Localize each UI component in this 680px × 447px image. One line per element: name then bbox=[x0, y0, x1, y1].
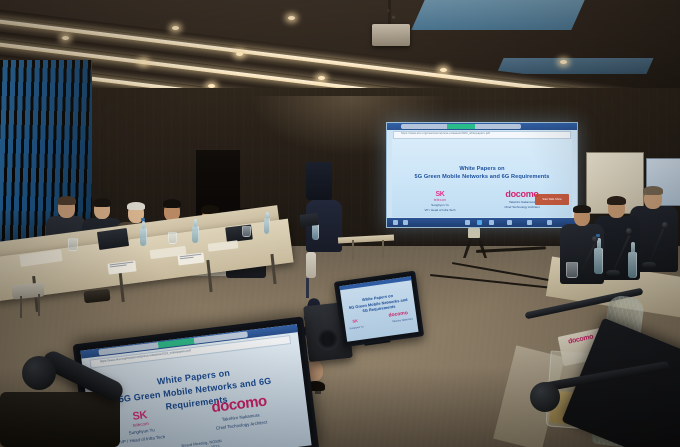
foreground-microphone-capsule bbox=[530, 382, 560, 412]
taskbar-icon[interactable] bbox=[393, 220, 398, 225]
sk-telecom-mark: SK bbox=[414, 191, 466, 198]
attendee-hair bbox=[163, 199, 181, 208]
attendee-hair bbox=[643, 186, 663, 195]
browser-tab-strip[interactable] bbox=[401, 124, 521, 129]
water-bottle bbox=[594, 248, 603, 274]
drinking-glass bbox=[242, 226, 251, 237]
taskbar-icon[interactable] bbox=[527, 220, 532, 225]
taskbar-icon[interactable] bbox=[507, 220, 512, 225]
microphone-base bbox=[642, 262, 656, 268]
microphone-head bbox=[662, 222, 668, 228]
sk-telecom-logo-block: SK telecom Sunghyun Yu VP / Head of Infr… bbox=[414, 191, 466, 212]
foreground-left-microphone-capsule bbox=[22, 356, 56, 390]
water-bottle bbox=[192, 226, 199, 243]
speaker-cone bbox=[316, 327, 340, 351]
presenter-tie bbox=[306, 278, 309, 298]
bottle-neck bbox=[194, 219, 197, 227]
slide-title-line1: White Papers on bbox=[392, 165, 572, 173]
lectern-leg bbox=[382, 240, 384, 258]
projector-cables bbox=[381, 4, 399, 26]
browser-url-text: https://www.etsi.org/newsroom/press-rele… bbox=[401, 132, 490, 135]
monitor-sk-mark: SK bbox=[352, 318, 358, 324]
taskbar-icon[interactable] bbox=[547, 220, 552, 225]
bottle-neck bbox=[266, 212, 269, 219]
start-slideshow-label: Start Slide Show bbox=[535, 194, 569, 205]
bottle-cap bbox=[141, 218, 145, 221]
microphone-base bbox=[606, 270, 620, 276]
drinking-glass bbox=[168, 232, 177, 244]
attendee-hair bbox=[573, 205, 591, 213]
monitor-sk-name: Sunghyun Yu bbox=[349, 325, 363, 330]
water-bottle bbox=[264, 218, 270, 234]
monitor-screen: White Papers on 5G Green Mobile Networks… bbox=[339, 276, 418, 341]
lectern-leg bbox=[352, 240, 354, 260]
downlight bbox=[318, 76, 325, 80]
water-bottle bbox=[628, 252, 637, 278]
downlight bbox=[62, 36, 69, 40]
sk-telecom-wordmark: telecom bbox=[414, 198, 466, 202]
presenter-shirt bbox=[306, 252, 316, 278]
windows-taskbar[interactable] bbox=[387, 218, 577, 227]
water-bottle bbox=[140, 228, 147, 246]
taskbar-icon[interactable] bbox=[477, 220, 482, 225]
attendee-hair bbox=[607, 196, 626, 205]
taskbar-icon[interactable] bbox=[403, 220, 408, 225]
taskbar-icon[interactable] bbox=[465, 220, 470, 225]
attendee-hair bbox=[127, 202, 145, 210]
water-bottle bbox=[312, 224, 319, 240]
laptop[interactable] bbox=[299, 213, 318, 227]
docomo-presenter-role: Chief Technology Architect bbox=[490, 205, 554, 209]
conference-room-photo: https://www.etsi.org/newsroom/press-rele… bbox=[0, 0, 680, 447]
bottle-neck bbox=[142, 221, 145, 229]
presenter-legs bbox=[306, 162, 332, 200]
ceiling-sky-slot bbox=[411, 0, 584, 30]
ceiling-projector bbox=[372, 24, 410, 46]
slide-canvas: White Papers on 5G Green Mobile Networks… bbox=[392, 139, 572, 217]
downlight bbox=[288, 16, 295, 20]
drinking-glass bbox=[68, 238, 78, 251]
microphone-head bbox=[592, 236, 598, 242]
ceiling-sky-slot-secondary bbox=[496, 58, 653, 74]
drinking-glass bbox=[566, 262, 578, 278]
downlight bbox=[172, 26, 179, 30]
browser-title-bar bbox=[387, 123, 577, 130]
chair-leg bbox=[38, 294, 40, 316]
downlight bbox=[440, 68, 447, 72]
slide-title-line2: 5G Green Mobile Networks and 6G Requirem… bbox=[392, 173, 572, 181]
monitor-docomo-name: Takehiro Nakamura bbox=[392, 317, 413, 323]
attendee-hair bbox=[93, 198, 111, 207]
taskbar-icon[interactable] bbox=[489, 220, 494, 225]
slide-title: White Papers on 5G Green Mobile Networks… bbox=[392, 165, 572, 181]
confidence-monitor-center[interactable]: White Papers on 5G Green Mobile Networks… bbox=[334, 271, 424, 348]
sk-presenter-role: VP / Head of Infra Tech bbox=[414, 208, 466, 212]
tripod-equipment-box bbox=[468, 228, 480, 238]
downlight bbox=[140, 60, 147, 64]
sk-presenter-name: Sunghyun Yu bbox=[414, 203, 466, 207]
microphone-head bbox=[626, 228, 632, 234]
foreground-chair-back bbox=[0, 392, 120, 447]
bottle-neck bbox=[631, 242, 635, 254]
attendee-hair bbox=[57, 196, 76, 205]
chair-leg bbox=[20, 296, 22, 318]
main-projection-screen[interactable]: https://www.etsi.org/newsroom/press-rele… bbox=[386, 122, 578, 228]
downlight bbox=[236, 52, 243, 56]
ceiling bbox=[0, 0, 680, 96]
start-slideshow-button[interactable]: Start Slide Show bbox=[535, 194, 569, 205]
downlight bbox=[560, 60, 567, 64]
